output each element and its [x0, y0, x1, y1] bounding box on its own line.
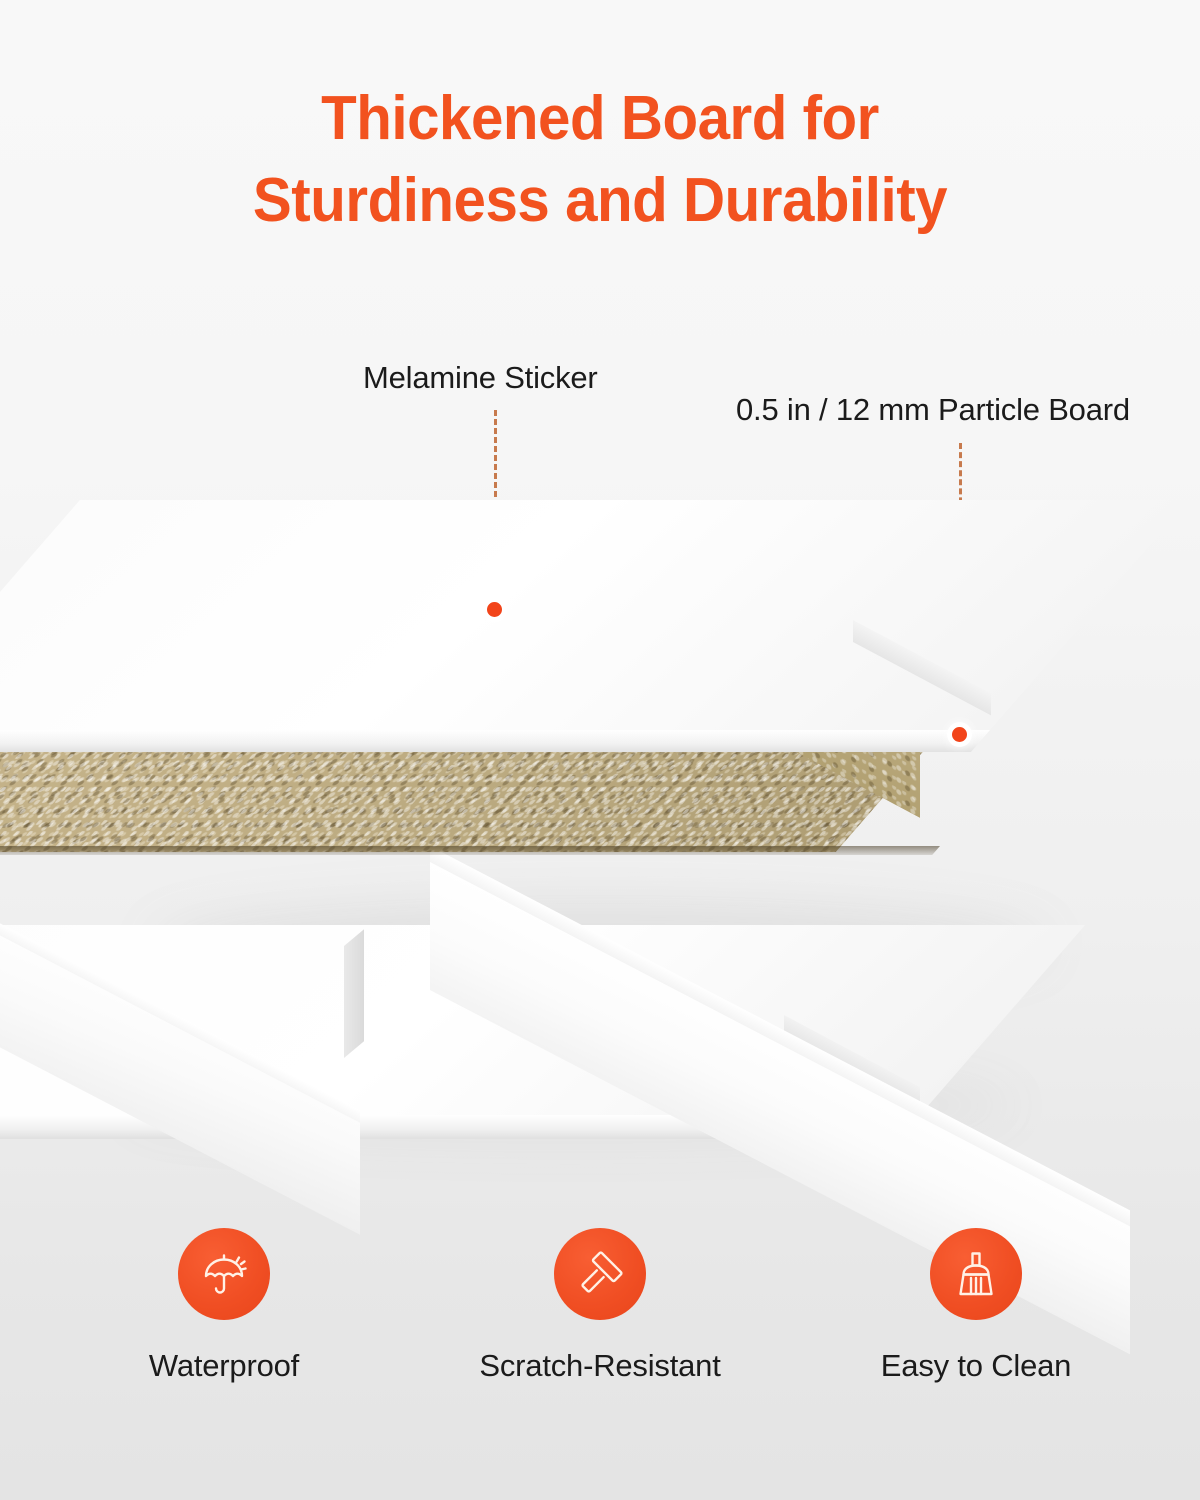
feature-item-easy-to-clean: Easy to Clean — [836, 1228, 1116, 1384]
feature-label-waterproof: Waterproof — [149, 1348, 299, 1384]
board-illustration — [0, 470, 1200, 1160]
feature-label-easy-to-clean: Easy to Clean — [881, 1348, 1071, 1384]
feature-list: Waterproof Scratch-Resistant — [0, 1228, 1200, 1384]
feature-badge-easy-to-clean — [930, 1228, 1022, 1320]
page-title-line-2: Sturdiness and Durability — [36, 160, 1164, 242]
callout-dot-melamine-sticker — [487, 602, 502, 617]
callout-dot-particle-board — [952, 727, 967, 742]
feature-badge-waterproof — [178, 1228, 270, 1320]
feature-item-scratch-resistant: Scratch-Resistant — [460, 1228, 740, 1384]
edge-banding-strip-cap — [344, 929, 364, 1058]
callout-label-melamine-sticker: Melamine Sticker — [363, 360, 598, 396]
hammer-icon — [574, 1248, 626, 1300]
feature-badge-scratch-resistant — [554, 1228, 646, 1320]
melamine-top-sheet-face — [0, 500, 1190, 730]
feature-item-waterproof: Waterproof — [84, 1228, 364, 1384]
feature-label-scratch-resistant: Scratch-Resistant — [479, 1348, 720, 1384]
particle-board-core-shadow — [0, 846, 940, 855]
page-title-line-1: Thickened Board for — [36, 78, 1164, 160]
page-title: Thickened Board for Sturdiness and Durab… — [36, 78, 1164, 242]
umbrella-icon — [198, 1248, 250, 1300]
broom-icon — [950, 1248, 1002, 1300]
melamine-top-sheet-edge — [0, 730, 990, 752]
callout-label-particle-board: 0.5 in / 12 mm Particle Board — [736, 392, 1130, 428]
